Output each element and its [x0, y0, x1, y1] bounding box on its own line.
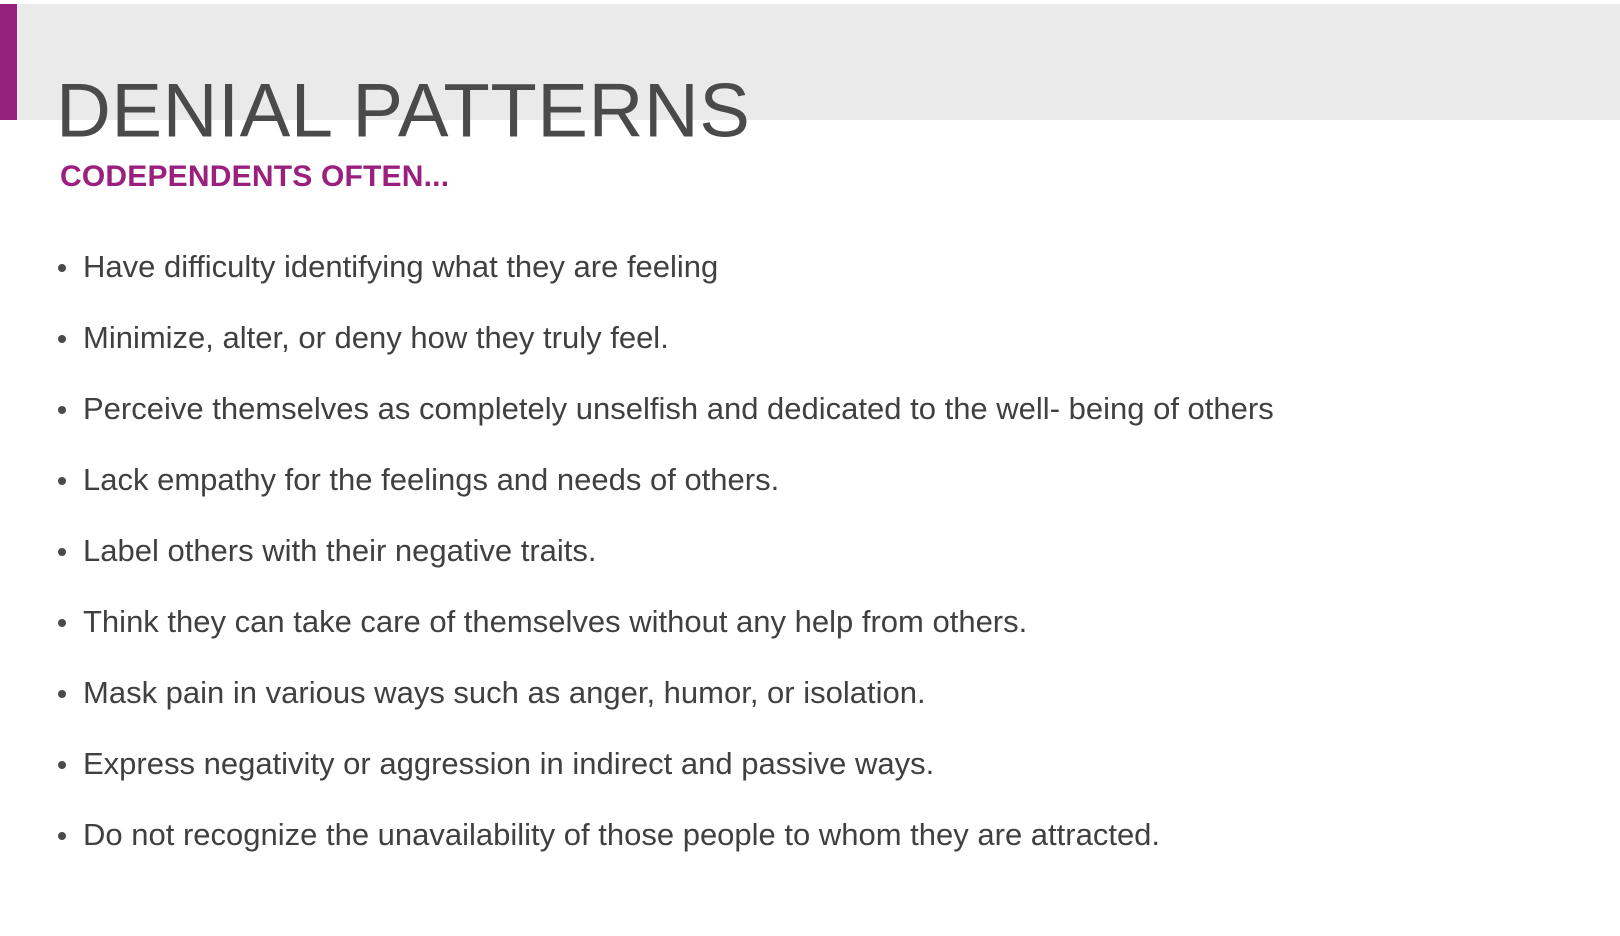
bullet-dot-icon [58, 335, 66, 343]
list-item: Mask pain in various ways such as anger,… [0, 658, 1620, 729]
bullet-list: Have difficulty identifying what they ar… [0, 232, 1620, 871]
title-band: DENIAL PATTERNS [0, 4, 1620, 120]
list-item-text: Have difficulty identifying what they ar… [83, 250, 718, 284]
body-content: CODEPENDENTS OFTEN... Have difficulty id… [0, 120, 1620, 936]
list-item-text: Express negativity or aggression in indi… [83, 747, 934, 781]
list-item-text: Minimize, alter, or deny how they truly … [83, 321, 669, 355]
list-item: Express negativity or aggression in indi… [0, 729, 1620, 800]
list-item: Perceive themselves as completely unself… [0, 374, 1620, 445]
slide: DENIAL PATTERNS CODEPENDENTS OFTEN... Ha… [0, 0, 1620, 936]
bullet-dot-icon [58, 477, 66, 485]
bullet-dot-icon [58, 406, 66, 414]
list-item-text: Think they can take care of themselves w… [83, 605, 1027, 639]
section-subtitle: CODEPENDENTS OFTEN... [60, 159, 449, 195]
list-item-text: Do not recognize the unavailability of t… [83, 818, 1160, 852]
list-item: Lack empathy for the feelings and needs … [0, 445, 1620, 516]
list-item: Label others with their negative traits. [0, 516, 1620, 587]
list-item: Think they can take care of themselves w… [0, 587, 1620, 658]
list-item: Minimize, alter, or deny how they truly … [0, 303, 1620, 374]
bullet-dot-icon [58, 690, 66, 698]
bullet-dot-icon [58, 832, 66, 840]
list-item-text: Label others with their negative traits. [83, 534, 597, 568]
bullet-dot-icon [58, 619, 66, 627]
bullet-dot-icon [58, 548, 66, 556]
list-item-text: Mask pain in various ways such as anger,… [83, 676, 926, 710]
bullet-dot-icon [58, 264, 66, 272]
list-item: Have difficulty identifying what they ar… [0, 232, 1620, 303]
list-item: Do not recognize the unavailability of t… [0, 800, 1620, 871]
list-item-text: Perceive themselves as completely unself… [83, 392, 1274, 426]
bullet-dot-icon [58, 761, 66, 769]
list-item-text: Lack empathy for the feelings and needs … [83, 463, 779, 497]
accent-bar [0, 4, 17, 120]
